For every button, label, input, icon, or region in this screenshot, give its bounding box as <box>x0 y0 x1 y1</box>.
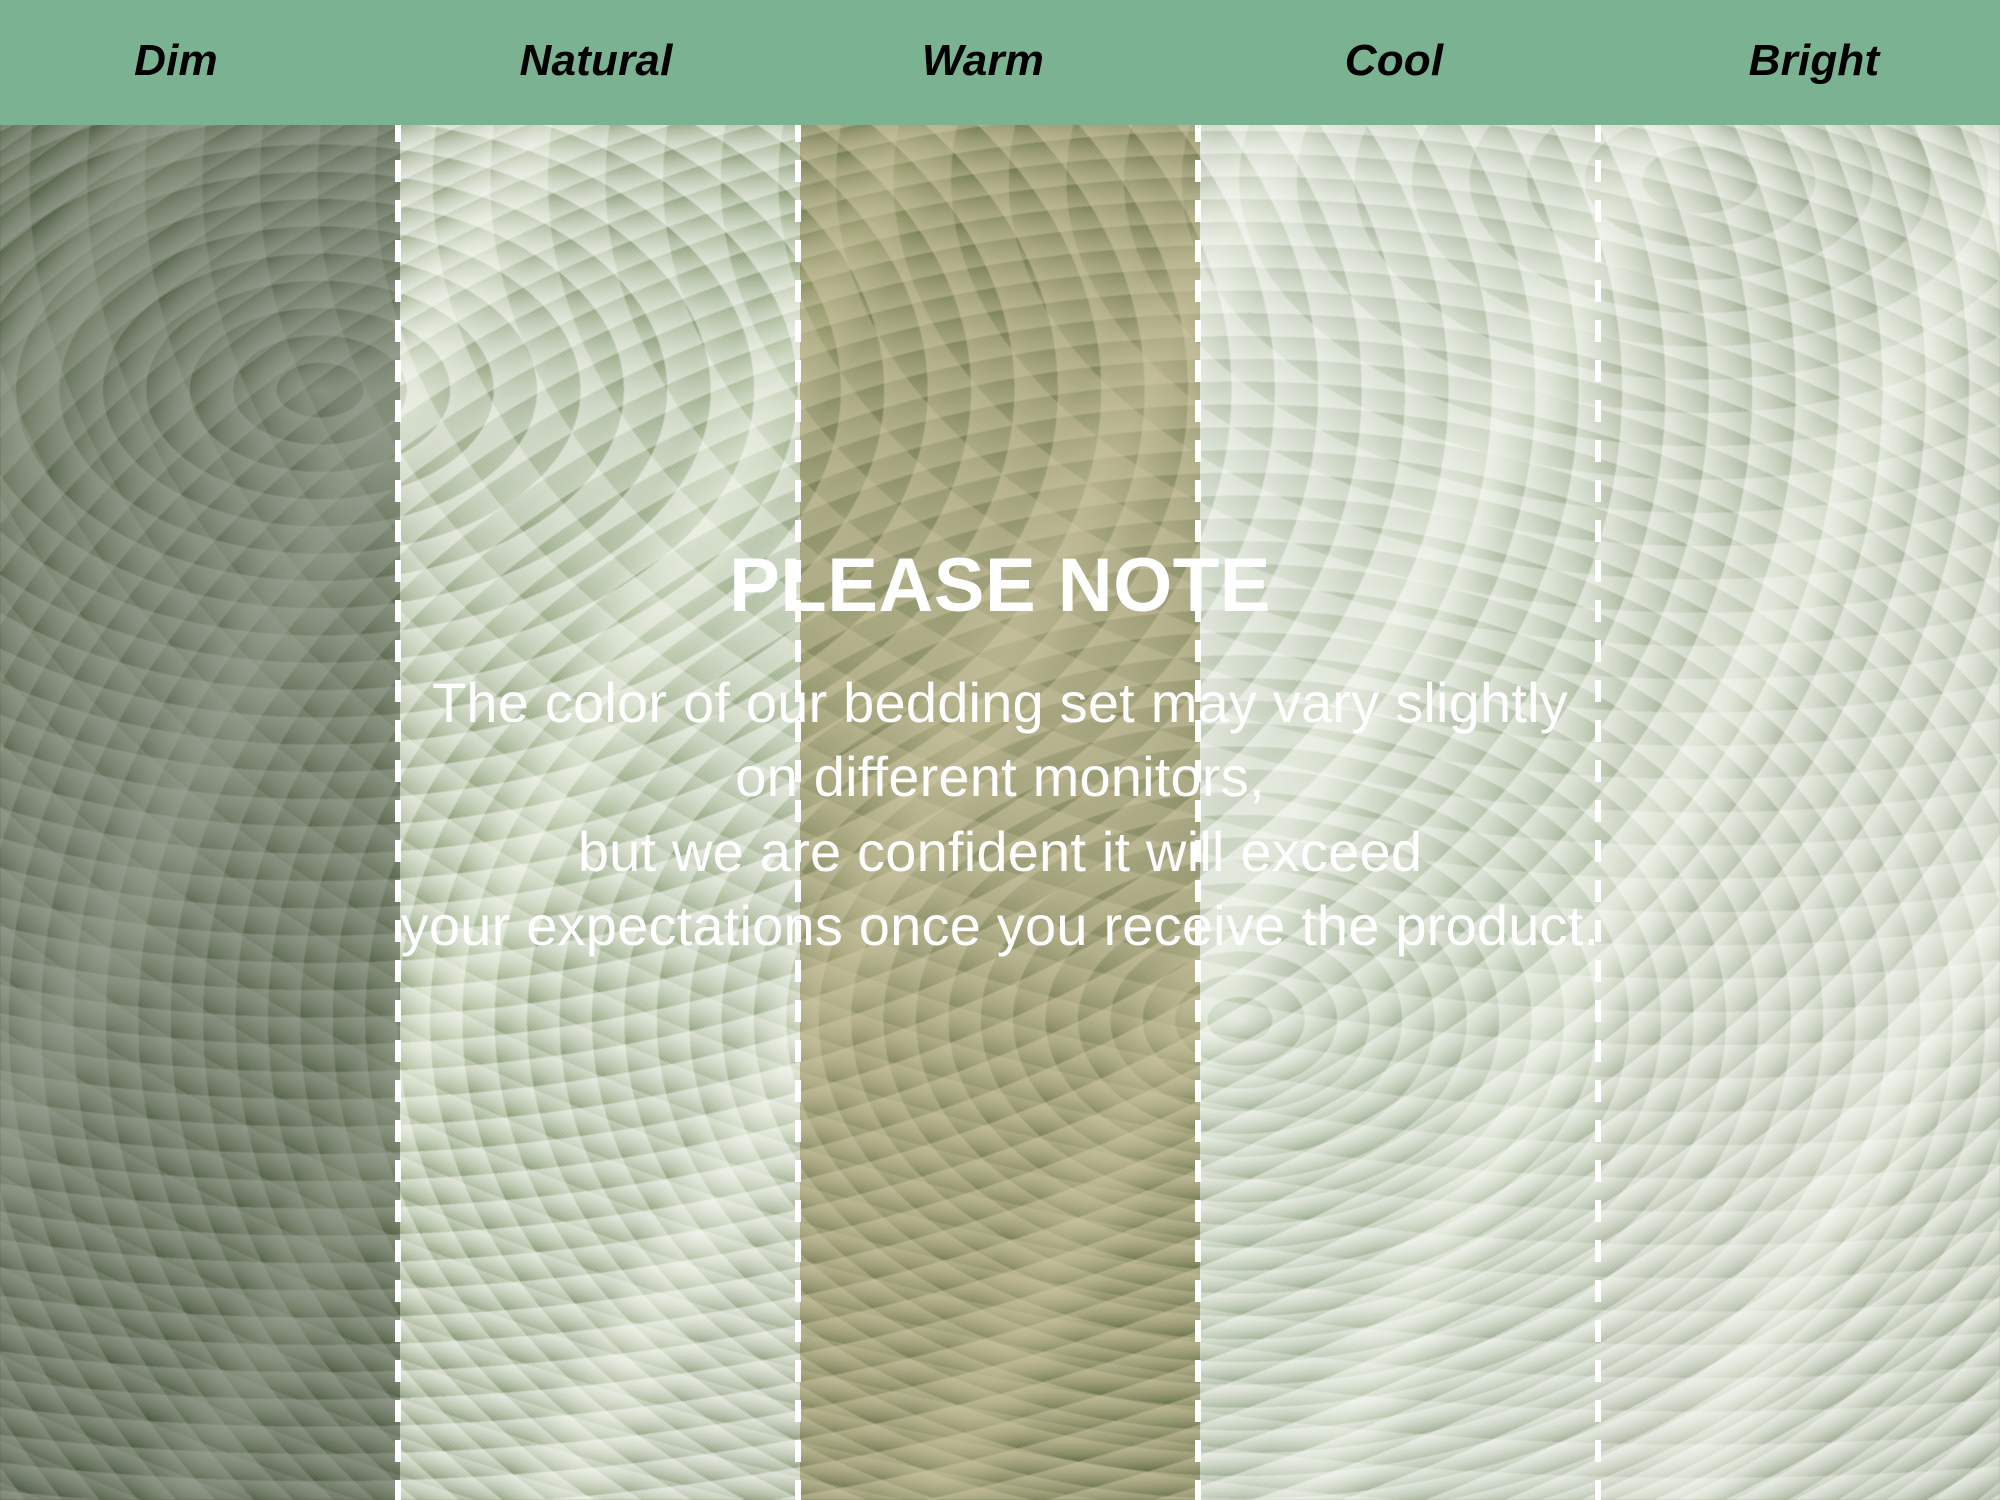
lighting-label-cool: Cool <box>1200 0 1600 125</box>
lighting-label-warm: Warm <box>800 0 1200 125</box>
fabric-texture <box>800 0 1200 1500</box>
column-divider-1 <box>395 0 401 1500</box>
fabric-texture <box>0 0 400 1500</box>
fabric-texture <box>400 0 800 1500</box>
fabric-panel-warm <box>800 0 1200 1500</box>
lighting-condition-label-bar: Dim Natural Warm Cool Bright <box>0 0 2000 125</box>
lighting-label-bright: Bright <box>1600 0 2000 125</box>
column-divider-2 <box>795 0 801 1500</box>
lighting-label-cool-text: Cool <box>1345 39 1444 83</box>
fabric-panel-dim <box>0 0 400 1500</box>
fabric-panel-bright <box>1600 0 2000 1500</box>
fabric-texture <box>1600 0 2000 1500</box>
lighting-label-natural: Natural <box>400 0 800 125</box>
fabric-panel-natural <box>400 0 800 1500</box>
column-divider-4 <box>1595 0 1601 1500</box>
lighting-label-warm-text: Warm <box>922 39 1044 83</box>
lighting-label-natural-text: Natural <box>520 39 673 83</box>
fabric-panel-cool <box>1200 0 1600 1500</box>
fabric-texture <box>1200 0 1600 1500</box>
column-divider-3 <box>1195 0 1201 1500</box>
color-variation-note-graphic: Dim Natural Warm Cool Bright PLEASE NOTE… <box>0 0 2000 1500</box>
lighting-label-bright-text: Bright <box>1749 39 1880 83</box>
fabric-panel-strip <box>0 0 2000 1500</box>
lighting-label-dim-text: Dim <box>134 39 218 83</box>
lighting-label-dim: Dim <box>0 0 400 125</box>
